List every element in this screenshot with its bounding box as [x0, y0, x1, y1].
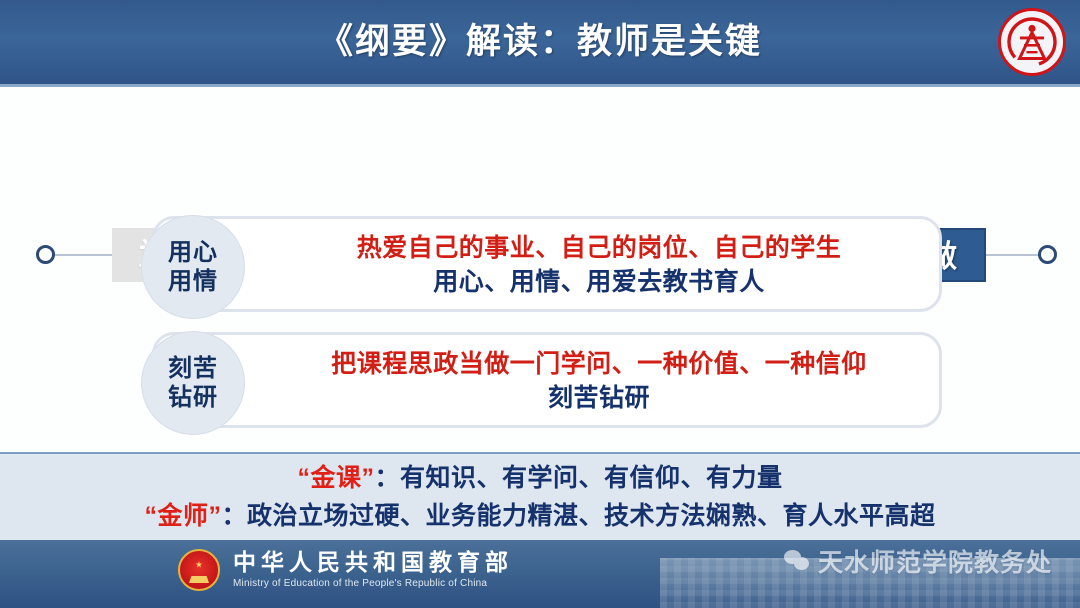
summary-line-gold-teacher: “金师”：政治立场过硬、业务能力精湛、技术方法娴熟、育人水平高超 [144, 497, 935, 535]
content-card: 用心 用情 热爱自己的事业、自己的岗位、自己的学生 用心、用情、用爱去教书育人 [152, 216, 942, 312]
card-badge: 用心 用情 [141, 215, 245, 319]
card-badge-line2: 钻研 [168, 383, 218, 412]
ministry-name-en: Ministry of Education of the People's Re… [233, 577, 513, 591]
summary-panel: “金课”：有知识、有学问、有信仰、有力量 “金师”：政治立场过硬、业务能力精湛、… [0, 452, 1080, 540]
card-primary-line: 把课程思政当做一门学问、一种价值、一种信仰 [331, 348, 867, 381]
nav-endpoint-right-circle-icon [1038, 245, 1057, 264]
summary-text-gold-course: ：有知识、有学问、有信仰、有力量 [375, 464, 783, 492]
card-badge-line2: 用情 [168, 267, 218, 296]
ministry-name-cn: 中华人民共和国教育部 [233, 550, 513, 575]
step-navigation: 为什么 是什么 做什么 怎么做 谁来做 [0, 100, 1080, 186]
watermark-label: 天水师范学院教务处 [818, 543, 1052, 579]
card-badge-line1: 用心 [168, 238, 218, 267]
card-primary-line: 热爱自己的事业、自己的岗位、自己的学生 [357, 232, 842, 265]
summary-text-gold-teacher: ：政治立场过硬、业务能力精湛、技术方法娴熟、育人水平高超 [222, 502, 936, 530]
wechat-icon [784, 550, 810, 572]
slide-canvas: 《纲要》解读：教师是关键 为什么 是什么 做什么 怎么做 谁来做 用心 用情 [0, 0, 1080, 608]
card-badge-line1: 刻苦 [168, 354, 218, 383]
slide-header: 《纲要》解读：教师是关键 [0, 0, 1080, 87]
summary-keyword-gold-teacher: “金师” [144, 502, 221, 530]
card-badge: 刻苦 钻研 [141, 331, 245, 435]
card-secondary-line: 用心、用情、用爱去教书育人 [433, 265, 765, 300]
institution-logo-icon [998, 8, 1066, 76]
summary-keyword-gold-course: “金课” [297, 464, 374, 492]
wechat-bubble-small [794, 557, 809, 570]
ministry-branding: 中华人民共和国教育部 Ministry of Education of the … [178, 549, 513, 591]
nav-endpoint-left-circle-icon [36, 245, 55, 264]
page-title: 《纲要》解读：教师是关键 [0, 0, 1080, 84]
content-card: 刻苦 钻研 把课程思政当做一门学问、一种价值、一种信仰 刻苦钻研 [152, 332, 942, 428]
summary-line-gold-course: “金课”：有知识、有学问、有信仰、有力量 [297, 459, 782, 497]
card-body: 热爱自己的事业、自己的岗位、自己的学生 用心、用情、用爱去教书育人 [259, 223, 939, 309]
national-emblem-icon [178, 549, 220, 591]
card-secondary-line: 刻苦钻研 [548, 381, 650, 416]
ministry-text-block: 中华人民共和国教育部 Ministry of Education of the … [233, 550, 513, 591]
wechat-watermark: 天水师范学院教务处 [784, 543, 1052, 579]
card-body: 把课程思政当做一门学问、一种价值、一种信仰 刻苦钻研 [259, 339, 939, 425]
